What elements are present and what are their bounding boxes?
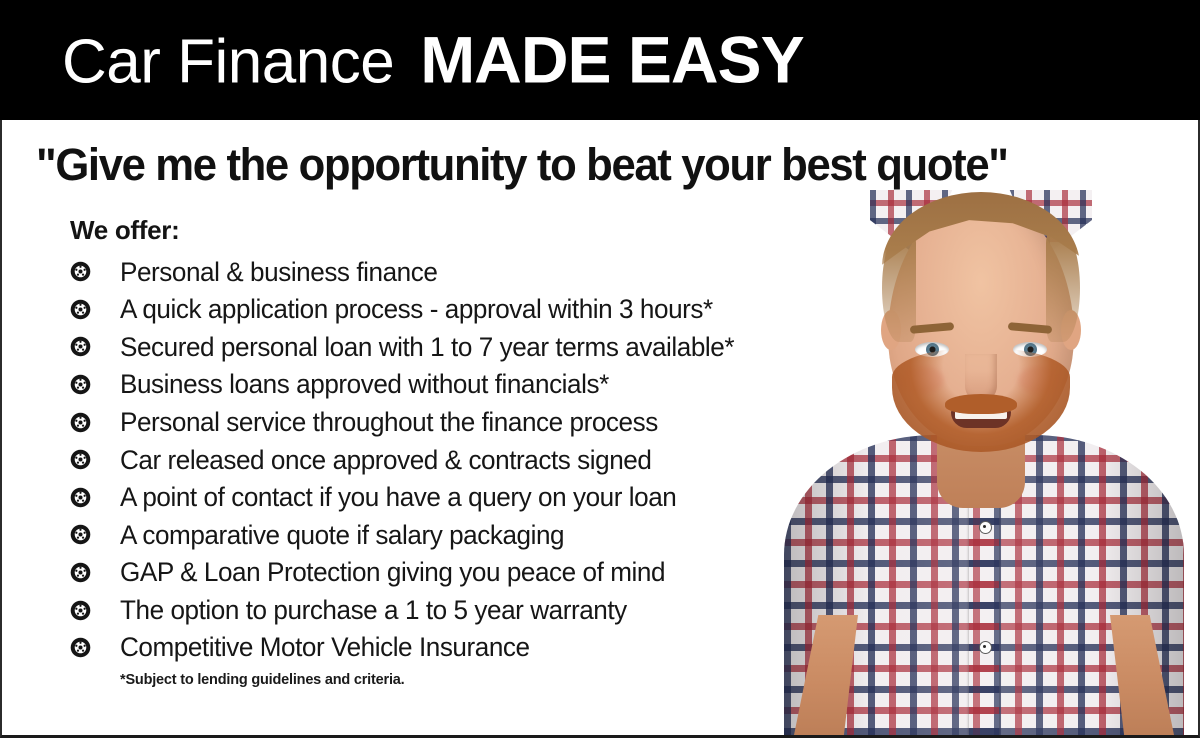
wheel-icon <box>70 449 91 470</box>
wheel-icon <box>70 487 91 508</box>
offers-footnote: *Subject to lending guidelines and crite… <box>120 672 404 688</box>
wheel-icon <box>70 412 91 433</box>
wheel-icon <box>70 524 91 545</box>
list-item: Business loans approved without financia… <box>70 366 860 404</box>
wheel-icon <box>70 562 91 583</box>
shirt-button <box>979 641 992 654</box>
wheel-icon <box>70 261 91 282</box>
offers-heading: We offer: <box>70 215 180 246</box>
shirt-button <box>979 521 992 534</box>
list-item: Personal & business finance <box>70 253 860 291</box>
header-banner: Car FinanceMADE EASY <box>0 0 1200 120</box>
wheel-icon <box>70 336 91 357</box>
list-item-label: A point of contact if you have a query o… <box>120 484 676 511</box>
offers-list: Personal & business finance A quick appl… <box>70 253 860 667</box>
list-item: Personal service throughout the finance … <box>70 403 860 441</box>
list-item-label: The option to purchase a 1 to 5 year war… <box>120 597 627 624</box>
wheel-icon <box>70 600 91 621</box>
portrait-photo <box>766 190 1196 735</box>
list-item: GAP & Loan Protection giving you peace o… <box>70 554 860 592</box>
list-item-label: Car released once approved & contracts s… <box>120 447 651 474</box>
head <box>888 198 1074 446</box>
list-item-label: A comparative quote if salary packaging <box>120 522 564 549</box>
list-item: Car released once approved & contracts s… <box>70 441 860 479</box>
list-item-label: Competitive Motor Vehicle Insurance <box>120 634 530 661</box>
wheel-icon <box>70 637 91 658</box>
banner-title-bold: MADE EASY <box>420 23 803 97</box>
list-item: A quick application process - approval w… <box>70 291 860 329</box>
list-item: A point of contact if you have a query o… <box>70 479 860 517</box>
list-item-label: A quick application process - approval w… <box>120 296 713 323</box>
banner-title: Car FinanceMADE EASY <box>62 27 804 94</box>
list-item: Secured personal loan with 1 to 7 year t… <box>70 328 860 366</box>
headline-quote: "Give me the opportunity to beat your be… <box>36 142 1142 187</box>
wheel-icon <box>70 299 91 320</box>
list-item-label: GAP & Loan Protection giving you peace o… <box>120 559 665 586</box>
car-finance-advert: Car FinanceMADE EASY "Give me the opport… <box>0 0 1200 738</box>
list-item-label: Business loans approved without financia… <box>120 371 609 398</box>
list-item: Competitive Motor Vehicle Insurance <box>70 629 860 667</box>
banner-title-light: Car Finance <box>62 28 394 97</box>
mustache <box>945 394 1017 414</box>
content-panel: "Give me the opportunity to beat your be… <box>0 120 1200 738</box>
wheel-icon <box>70 374 91 395</box>
list-item-label: Personal service throughout the finance … <box>120 409 658 436</box>
list-item: The option to purchase a 1 to 5 year war… <box>70 591 860 629</box>
eyebrow-left <box>910 322 955 334</box>
list-item: A comparative quote if salary packaging <box>70 516 860 554</box>
list-item-label: Secured personal loan with 1 to 7 year t… <box>120 334 734 361</box>
list-item-label: Personal & business finance <box>120 259 437 286</box>
